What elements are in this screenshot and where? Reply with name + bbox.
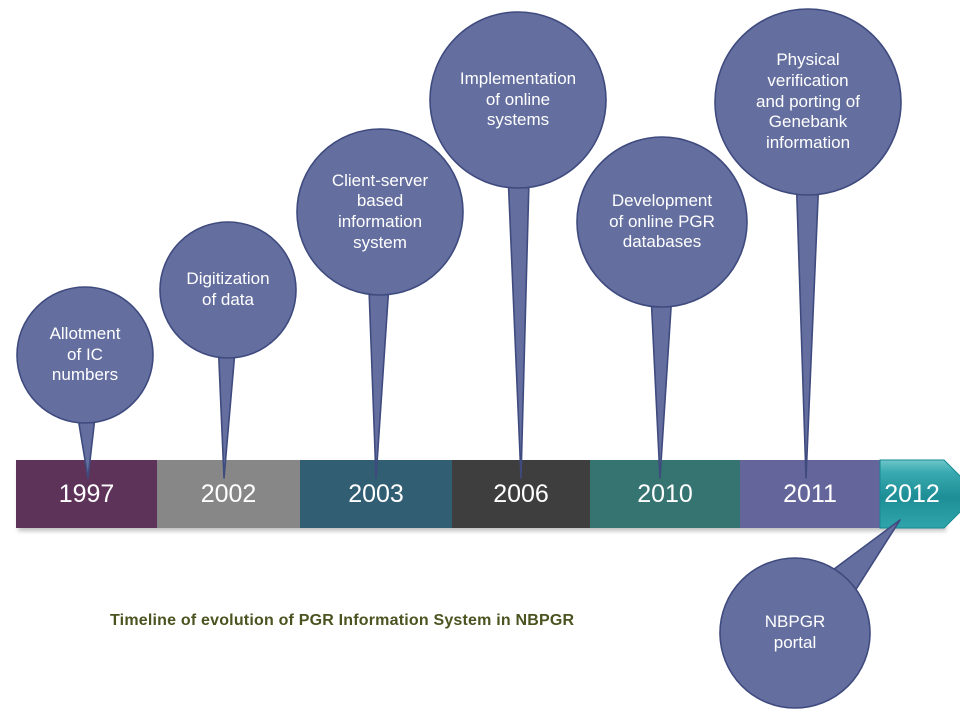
callout-circle-development-of-online-pgr-databases[interactable] bbox=[577, 137, 747, 307]
callout-bubbles bbox=[17, 9, 901, 708]
callout-tail-implementation-of-online-systems bbox=[509, 187, 529, 478]
callout-allotment-of-ic-numbers[interactable] bbox=[17, 287, 153, 478]
callout-circle-allotment-of-ic-numbers[interactable] bbox=[17, 287, 153, 423]
callout-circle-nbpgr-portal[interactable] bbox=[720, 558, 870, 708]
timeline-segment-2010[interactable] bbox=[590, 460, 740, 528]
callout-tail-development-of-online-pgr-databases bbox=[652, 306, 672, 478]
timeline-segment-2012[interactable] bbox=[880, 460, 960, 528]
callout-circle-physical-verification-and-porting-of-genebank-information[interactable] bbox=[715, 9, 901, 195]
callout-development-of-online-pgr-databases[interactable] bbox=[577, 137, 747, 478]
callout-tail-digitization-of-data bbox=[219, 357, 235, 478]
timeline-diagram: 1997200220032006201020112012 Allotment o… bbox=[0, 0, 960, 720]
callout-digitization-of-data[interactable] bbox=[160, 222, 296, 478]
callout-circle-digitization-of-data[interactable] bbox=[160, 222, 296, 358]
callout-nbpgr-portal[interactable] bbox=[720, 520, 900, 708]
callout-circle-implementation-of-online-systems[interactable] bbox=[430, 12, 606, 188]
callout-circle-client-server-based-information-system[interactable] bbox=[297, 129, 463, 295]
callout-client-server-based-information-system[interactable] bbox=[297, 129, 463, 478]
timeline-bar bbox=[16, 460, 960, 528]
timeline-segment-2011[interactable] bbox=[740, 460, 880, 528]
callout-tail-client-server-based-information-system bbox=[369, 294, 388, 478]
callout-tail-physical-verification-and-porting-of-genebank-information bbox=[797, 194, 818, 478]
diagram-caption: Timeline of evolution of PGR Information… bbox=[110, 612, 574, 630]
timeline-segment-2002[interactable] bbox=[157, 460, 300, 528]
